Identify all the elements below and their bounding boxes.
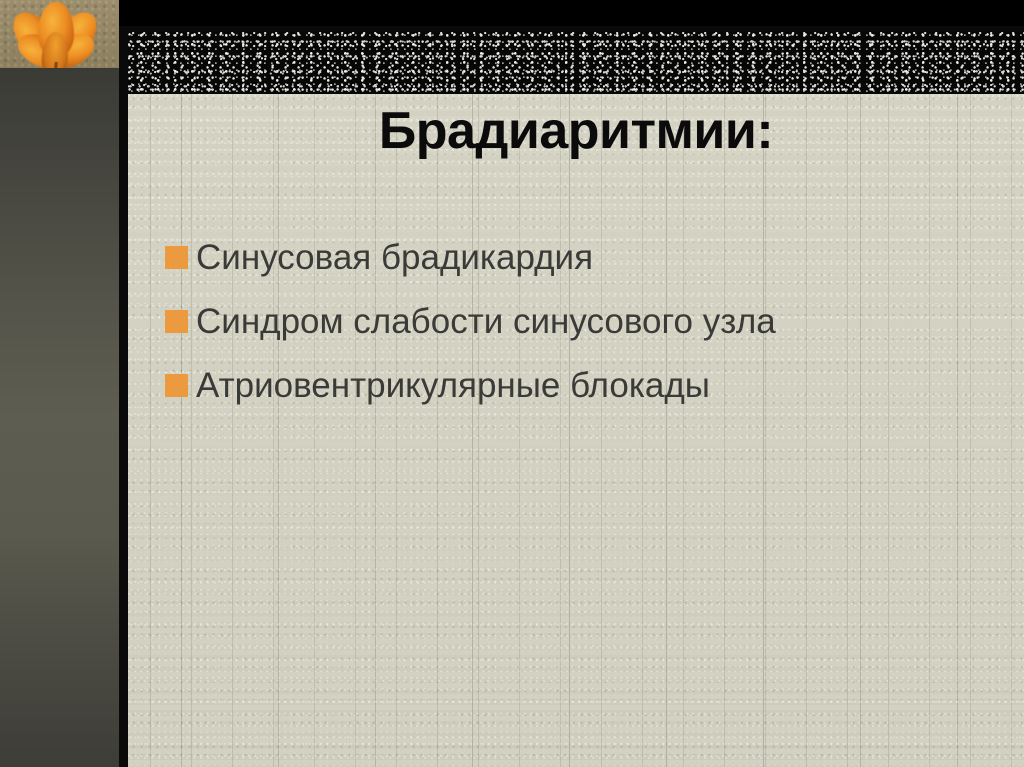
autumn-maple-leaf-icon <box>14 2 98 78</box>
leaf-strip-background <box>0 0 119 68</box>
orange-square-bullet-icon <box>165 310 188 333</box>
list-item-label: Атриовентрикулярные блокады <box>196 363 995 409</box>
header-noise-band <box>128 32 1024 94</box>
orange-square-bullet-icon <box>165 246 188 269</box>
slide-content-canvas <box>128 94 1024 767</box>
list-item: Атриовентрикулярные блокады <box>165 363 995 409</box>
list-item-label: Синусовая брадикардия <box>196 235 995 281</box>
list-item: Синдром слабости синусового узла <box>165 299 995 345</box>
presentation-slide: Брадиаритмии: Синусовая брадикардия Синд… <box>0 0 1024 767</box>
slide-bullet-list: Синусовая брадикардия Синдром слабости с… <box>165 235 995 427</box>
list-item: Синусовая брадикардия <box>165 235 995 281</box>
orange-square-bullet-icon <box>165 374 188 397</box>
slide-left-decoration-column <box>0 0 119 767</box>
list-item-label: Синдром слабости синусового узла <box>196 299 995 345</box>
slide-title: Брадиаритмии: <box>128 100 1024 162</box>
sidebar-gradient-panel <box>0 68 119 767</box>
